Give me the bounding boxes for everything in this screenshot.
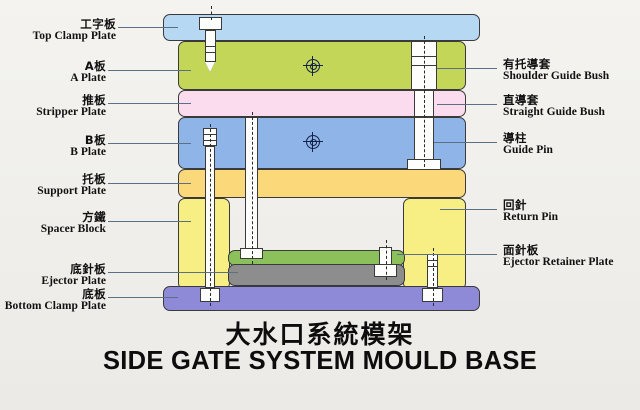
- label-spacer-block: 方鐵 Spacer Block: [41, 212, 106, 236]
- cap-screw-thread-2: [205, 52, 216, 53]
- part-spacer-block-left: [178, 198, 230, 290]
- datum-target-b-plate: [305, 134, 321, 150]
- label-support-plate: 托板 Support Plate: [37, 174, 106, 198]
- leader-ejector-retainer-plate: [397, 254, 497, 255]
- cap-screw-thread-1: [205, 46, 216, 47]
- label-stripper-plate: 推板 Stripper Plate: [36, 95, 106, 119]
- diagram-canvas: 工字板 Top Clamp Plate A板 A Plate 推板 Stripp…: [0, 0, 640, 410]
- title-chinese: 大水口系統模架: [0, 315, 640, 351]
- label-top-clamp-plate: 工字板 Top Clamp Plate: [33, 19, 116, 43]
- label-bottom-clamp-plate: 底板 Bottom Clamp Plate: [5, 289, 106, 313]
- return-pin-centerline: [386, 240, 387, 280]
- leader-support-plate: [108, 183, 191, 184]
- label-shoulder-guide-bush: 有托導套 Shoulder Guide Bush: [503, 59, 609, 83]
- leader-b-plate: [108, 143, 191, 144]
- leader-shoulder-guide-bush: [437, 68, 497, 69]
- leader-stripper-plate: [108, 103, 191, 104]
- leader-guide-pin: [434, 142, 497, 143]
- bottom-screw-centerline: [433, 248, 434, 306]
- label-guide-pin: 導柱 Guide Pin: [503, 133, 553, 157]
- leader-top-clamp-plate: [118, 27, 178, 28]
- label-a-plate: A板 A Plate: [70, 61, 106, 85]
- guide-pin-centerline: [424, 36, 425, 167]
- label-ejector-retainer-plate: 面針板 Ejector Retainer Plate: [503, 245, 614, 269]
- leader-return-pin: [440, 209, 497, 210]
- label-ejector-plate: 底針板 Ejector Plate: [41, 264, 106, 288]
- part-support-plate: [178, 169, 466, 198]
- label-straight-guide-bush: 直導套 Straight Guide Bush: [503, 95, 605, 119]
- label-return-pin: 回針 Return Pin: [503, 200, 558, 224]
- leader-spacer-block: [108, 221, 191, 222]
- leader-straight-guide-bush: [437, 104, 497, 105]
- label-b-plate: B板 B Plate: [70, 135, 106, 159]
- leader-bottom-clamp-plate: [108, 297, 178, 298]
- leader-a-plate: [108, 70, 191, 71]
- center-support-pin-centerline: [252, 112, 253, 264]
- datum-target-a-plate: [305, 58, 321, 74]
- ejector-pin-centerline: [210, 124, 211, 306]
- cap-screw-centerline: [211, 6, 212, 20]
- cap-screw-tip: [205, 62, 215, 72]
- title-english: SIDE GATE SYSTEM MOULD BASE: [0, 347, 640, 376]
- leader-ejector-plate: [108, 272, 238, 273]
